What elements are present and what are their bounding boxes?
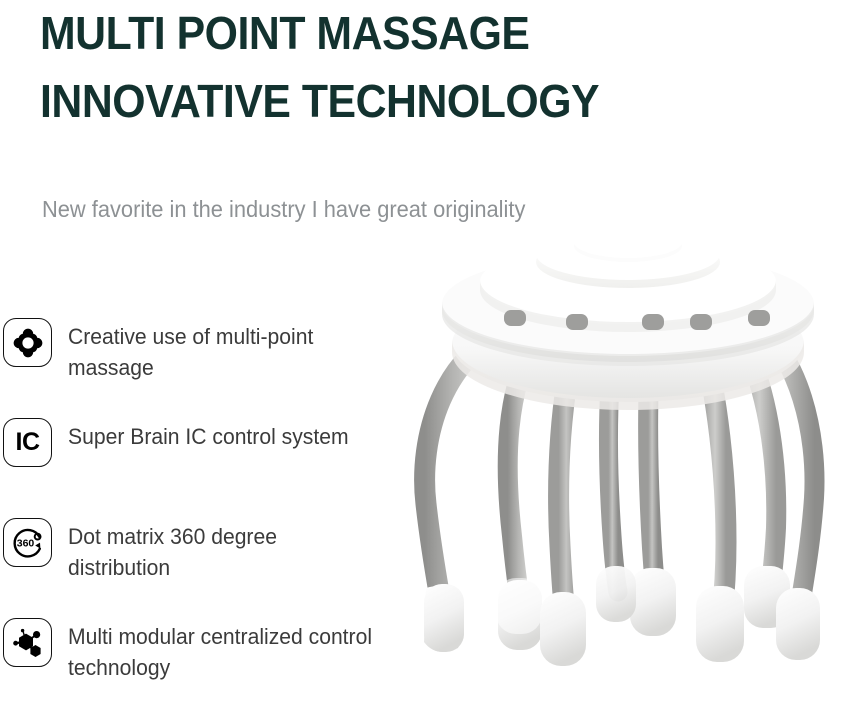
feature-item-modular-control: Multi modular centralized control techno…: [3, 614, 403, 714]
360-icon-text: 360: [16, 537, 34, 549]
molecule-cluster-icon: [3, 618, 52, 667]
feature-item-360-degree: 360 Dot matrix 360 degree distribution: [3, 514, 403, 614]
feature-item-ic-control: IC Super Brain IC control system: [3, 414, 403, 514]
headline-block: MULTI POINT MASSAGE INNOVATIVE TECHNOLOG…: [40, 2, 660, 132]
headline-line-2: INNOVATIVE TECHNOLOGY: [40, 70, 617, 132]
ic-chip-icon-text: IC: [16, 430, 40, 455]
product-image-head-massager: [400, 236, 841, 706]
subtitle: New favorite in the industry I have grea…: [42, 194, 525, 224]
feature-item-multi-point: Creative use of multi-point massage: [3, 314, 403, 414]
feature-label-360-degree: Dot matrix 360 degree distribution: [68, 514, 375, 583]
feature-label-modular-control: Multi modular centralized control techno…: [68, 614, 375, 683]
infographic-canvas: MULTI POINT MASSAGE INNOVATIVE TECHNOLOG…: [0, 0, 841, 706]
feature-label-ic-control: Super Brain IC control system: [68, 414, 349, 452]
feature-list: Creative use of multi-point massage IC S…: [3, 314, 403, 714]
headline-line-1: MULTI POINT MASSAGE: [40, 2, 617, 64]
multi-point-nodes-icon: [3, 318, 52, 367]
feature-label-multi-point: Creative use of multi-point massage: [68, 314, 375, 383]
360-degree-rotation-icon: 360: [3, 518, 52, 567]
ic-chip-icon: IC: [3, 418, 52, 467]
